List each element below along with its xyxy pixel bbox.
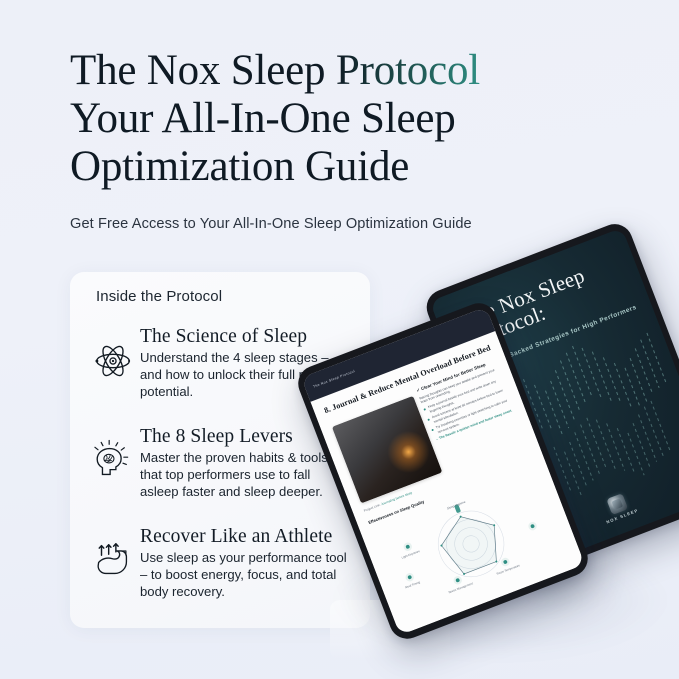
document-topbar-label: The Nox Sleep Protocol — [313, 369, 356, 389]
card-heading: Inside the Protocol — [96, 288, 222, 305]
title-line-3: Optimization Guide — [70, 143, 409, 190]
atom-icon — [90, 338, 136, 384]
title-line-1-accent: Protocol — [336, 47, 480, 94]
photo-caption-prefix: Project Link: — [363, 502, 382, 512]
radar-label-2: Meal Timing — [404, 580, 420, 589]
title-line-2: Your All-In-One Sleep — [70, 95, 456, 142]
promo-graphic-canvas: The Nox Sleep Protocol Your All-In-One S… — [0, 0, 679, 679]
radar-label-3: Stress Management — [448, 581, 474, 594]
page-title: The Nox Sleep Protocol Your All-In-One S… — [70, 47, 590, 191]
brain-head-idea-icon — [90, 438, 136, 484]
flexed-bicep-icon — [90, 538, 136, 584]
radar-label-4: Room Temperature — [496, 563, 521, 576]
radar-label-1: Light Exposure — [401, 549, 421, 560]
device-mockup-group: The Nox Sleep Protocol: Science-Backed S… — [320, 240, 679, 660]
page-subtitle: Get Free Access to Your All-In-One Sleep… — [70, 216, 472, 232]
title-line-1-plain: The Nox Sleep — [70, 47, 336, 94]
